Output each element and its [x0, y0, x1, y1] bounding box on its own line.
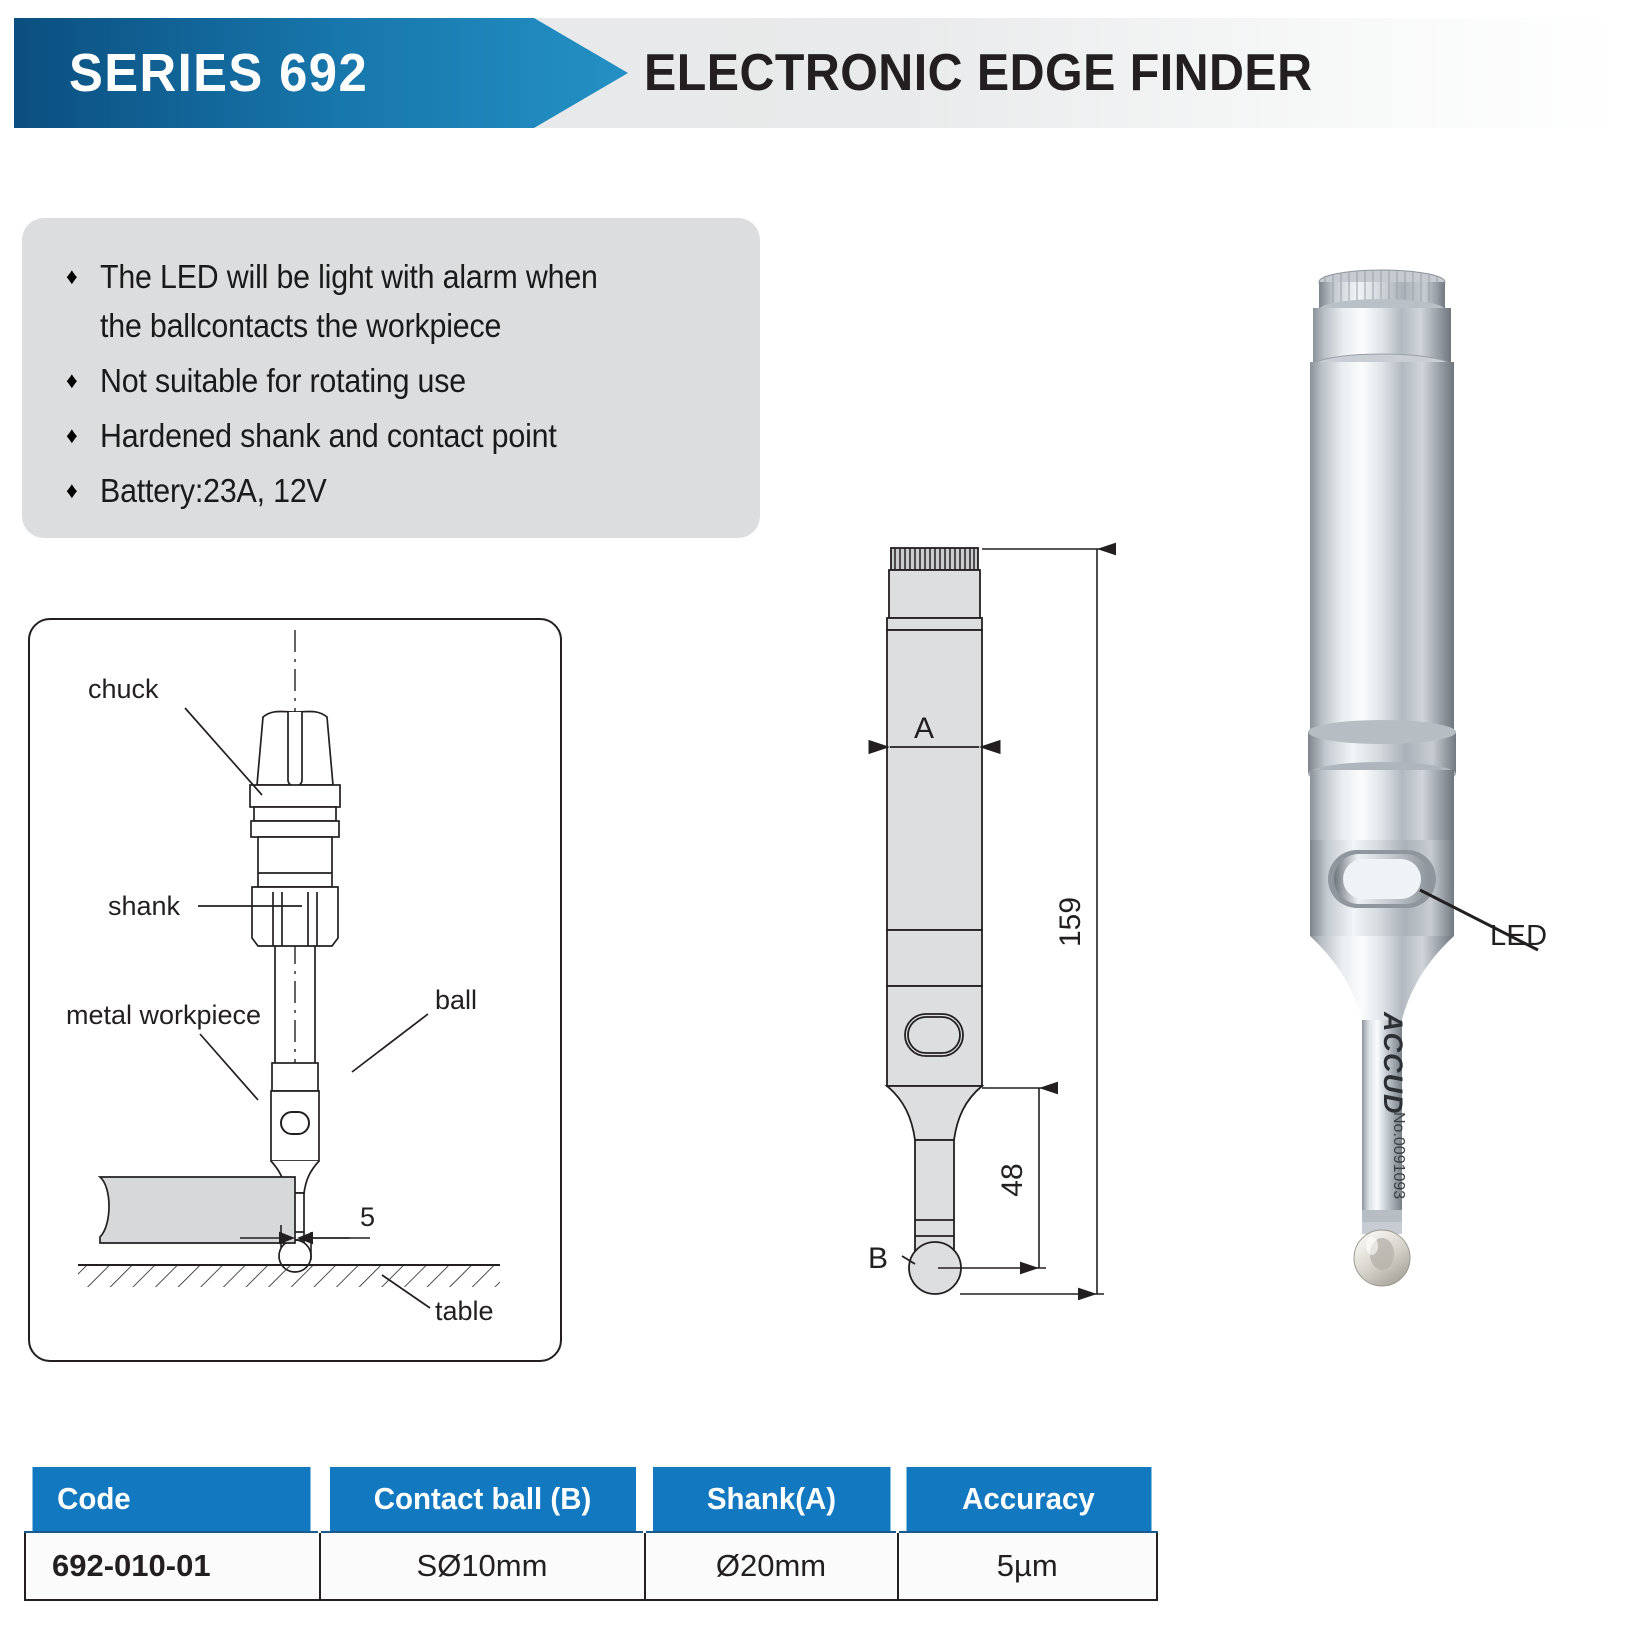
- cell-code: 692-010-01: [25, 1532, 320, 1600]
- offset-dimension-text: 5: [360, 1202, 375, 1232]
- feature-item: ♦ The LED will be light with alarm when …: [66, 252, 732, 350]
- label-table: table: [435, 1296, 494, 1326]
- feature-text: Not suitable for rotating use: [100, 356, 466, 405]
- label-shank: shank: [108, 891, 181, 921]
- col-header-contact-ball: Contact ball (B): [328, 1467, 637, 1532]
- cell-accuracy: 5µm: [898, 1532, 1158, 1600]
- table-row: 692-010-01 SØ10mm Ø20mm 5µm: [25, 1532, 1157, 1600]
- features-box: ♦ The LED will be light with alarm when …: [22, 218, 760, 538]
- diamond-bullet-icon: ♦: [66, 356, 100, 404]
- feature-item: ♦ Hardened shank and contact point: [66, 411, 732, 460]
- page-title: ELECTRONIC EDGE FINDER: [644, 18, 1313, 128]
- cell-shank: Ø20mm: [645, 1532, 898, 1600]
- label-chuck: chuck: [88, 674, 159, 704]
- led-callout-label: LED: [1490, 920, 1547, 953]
- diamond-bullet-icon: ♦: [66, 466, 100, 514]
- feature-text: Hardened shank and contact point: [100, 411, 557, 460]
- col-header-accuracy: Accuracy: [904, 1467, 1151, 1532]
- col-header-shank: Shank(A): [651, 1467, 891, 1532]
- shank-dimension-label: A: [914, 712, 934, 745]
- diamond-bullet-icon: ♦: [66, 252, 100, 300]
- label-ball: ball: [435, 985, 477, 1015]
- serial-engraving: No.0091093: [1390, 1112, 1407, 1199]
- probe-length-dimension: 48: [996, 1163, 1029, 1196]
- col-header-code: Code: [32, 1467, 312, 1532]
- diamond-bullet-icon: ♦: [66, 411, 100, 459]
- feature-item: ♦ Battery:23A, 12V: [66, 466, 732, 515]
- series-label: SERIES 692: [69, 18, 368, 128]
- feature-text: The LED will be light with alarm when th…: [100, 252, 598, 350]
- page-header: SERIES 692 ELECTRONIC EDGE FINDER: [14, 18, 1620, 128]
- total-length-dimension: 159: [1054, 897, 1087, 947]
- ball-dimension-label: B: [868, 1242, 888, 1275]
- feature-text: Battery:23A, 12V: [100, 466, 327, 515]
- feature-item: ♦ Not suitable for rotating use: [66, 356, 732, 405]
- label-metal-workpiece: metal workpiece: [66, 1000, 261, 1030]
- technical-drawing: A 159 48 B: [860, 520, 1140, 1300]
- brand-engraving: ACCUD: [1378, 1011, 1408, 1115]
- cell-contact-ball: SØ10mm: [320, 1532, 645, 1600]
- product-photo: ACCUD No.0091093: [1240, 250, 1620, 1310]
- application-diagram-panel: 5 chuck shank metal workpiece ball table: [28, 618, 562, 1362]
- table-header-row: Code Contact ball (B) Shank(A) Accuracy: [25, 1467, 1157, 1532]
- specification-table: Code Contact ball (B) Shank(A) Accuracy …: [24, 1467, 1158, 1601]
